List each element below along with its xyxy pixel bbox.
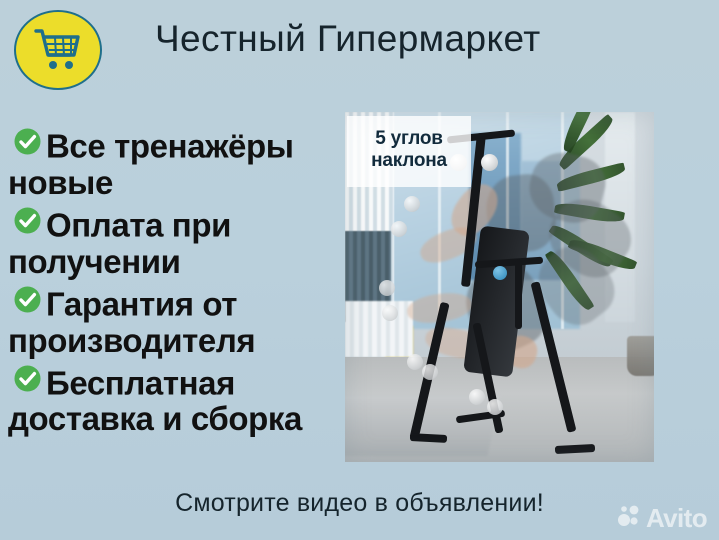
green-check-circle-icon (14, 286, 41, 313)
green-check-circle-icon (14, 207, 41, 234)
list-item-label-cont: новые (8, 164, 113, 201)
list-item: Оплата при получении (8, 207, 326, 280)
list-item: Все тренажёры новые (8, 128, 326, 201)
header: Честный Гипермаркет (0, 0, 719, 96)
avito-wordmark: Avito (646, 505, 707, 531)
green-check-circle-icon (14, 128, 41, 155)
list-item-label: Все тренажёры (46, 127, 294, 164)
list-item-label-cont: получении (8, 243, 181, 280)
list-item-label: Гарантия от (46, 285, 237, 322)
feature-list: Все тренажёры новые Оплата при получении… (8, 128, 326, 438)
green-check-circle-icon (14, 365, 41, 392)
list-item-label: Оплата при (46, 206, 231, 243)
list-item: Гарантия от производителя (8, 286, 326, 359)
video-caption: Смотрите видео в объявлении! (0, 489, 719, 518)
tilt-angles-badge: 5 углов наклона (347, 116, 471, 187)
avito-watermark: Avito (617, 504, 707, 532)
brand-title: Честный Гипермаркет (155, 18, 541, 60)
list-item-label-cont: производителя (8, 322, 255, 359)
list-item-label-cont: доставка и сборка (8, 400, 302, 437)
list-item: Бесплатная доставка и сборка (8, 365, 326, 438)
avito-dots-icon (617, 504, 641, 532)
shopping-cart-icon (33, 27, 83, 73)
list-item-label: Бесплатная (46, 364, 235, 401)
brand-logo (14, 10, 102, 90)
advertisement-card: Честный Гипермаркет Все тренажёры новые … (0, 0, 719, 540)
badge-line-2: наклона (357, 150, 461, 172)
badge-line-1: 5 углов (357, 128, 461, 150)
